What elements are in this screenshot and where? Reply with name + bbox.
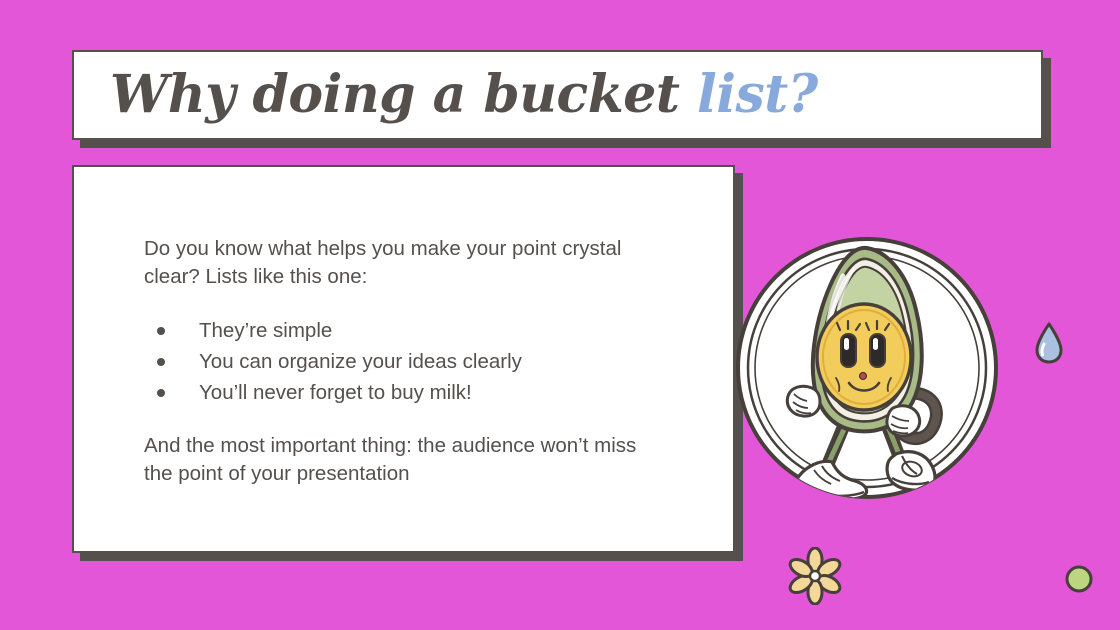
bullet-list: They’re simple You can organize your ide… (144, 317, 664, 407)
page-title-accent: list? (697, 64, 818, 125)
list-item: You’ll never forget to buy milk! (144, 379, 664, 407)
green-dot-icon (1064, 564, 1094, 594)
bullet-dot-icon (157, 389, 165, 397)
flower-icon (786, 547, 844, 605)
list-item: You can organize your ideas clearly (144, 348, 664, 376)
list-item-label: You’ll never forget to buy milk! (199, 381, 472, 404)
page-title: Why doing a bucket list? (74, 69, 818, 121)
avocado-face (817, 304, 911, 410)
bullet-dot-icon (157, 358, 165, 366)
left-hand (787, 386, 820, 416)
body-card: Do you know what helps you make your poi… (72, 165, 735, 553)
body-content: Do you know what helps you make your poi… (144, 235, 664, 488)
title-card: Why doing a bucket list? (72, 50, 1043, 140)
bullet-dot-icon (157, 327, 165, 335)
list-item-label: You can organize your ideas clearly (199, 350, 522, 373)
list-item: They’re simple (144, 317, 664, 345)
intro-paragraph: Do you know what helps you make your poi… (144, 235, 664, 291)
avocado-illustration (736, 226, 998, 514)
list-item-label: They’re simple (199, 319, 332, 342)
slide-canvas: Why doing a bucket list? Do you know wha… (0, 0, 1120, 630)
page-title-main: Why doing a bucket (110, 64, 697, 125)
right-hand (887, 406, 920, 436)
water-droplet-icon (1034, 322, 1064, 364)
outro-paragraph: And the most important thing: the audien… (144, 432, 664, 488)
